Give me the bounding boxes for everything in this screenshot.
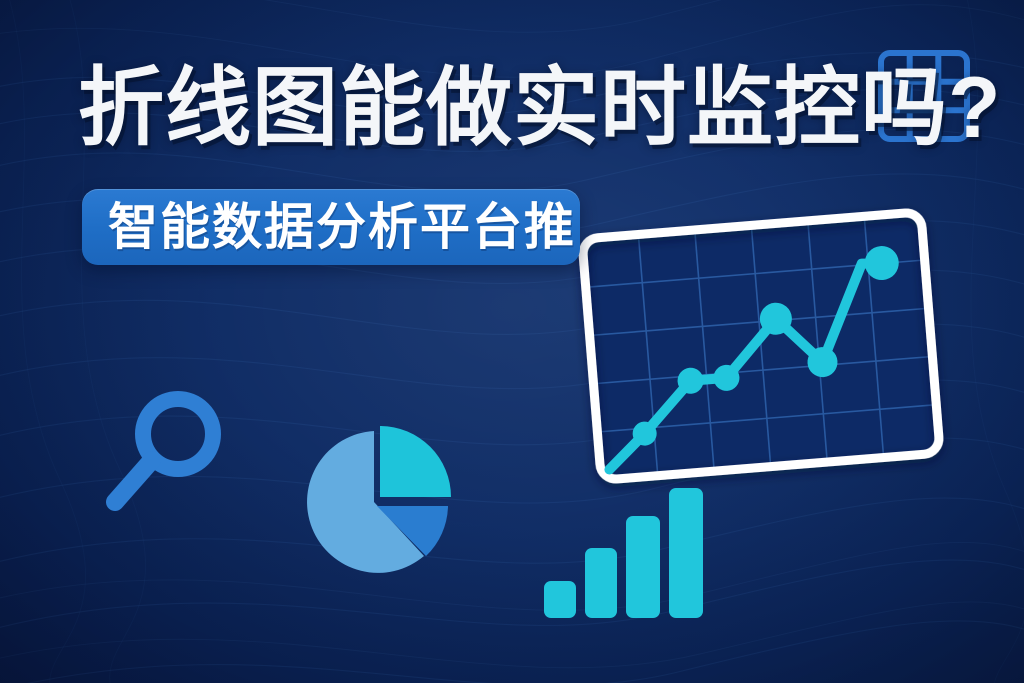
bar-item xyxy=(626,516,660,618)
poster-canvas: 折线图能做实时监控吗? 智能数据分析平台推 xyxy=(0,0,1024,683)
line-chart xyxy=(568,198,954,494)
bar-chart xyxy=(540,478,710,620)
search-icon xyxy=(100,386,232,520)
bar-item xyxy=(669,488,703,618)
page-title: 折线图能做实时监控吗? xyxy=(78,62,958,155)
bar-item xyxy=(544,581,576,618)
bar-item xyxy=(585,548,617,618)
subtitle-badge-label: 智能数据分析平台推 xyxy=(82,202,576,252)
pie-chart xyxy=(294,424,470,580)
subtitle-badge: 智能数据分析平台推 xyxy=(82,189,580,265)
pie-slice-b xyxy=(380,426,451,497)
